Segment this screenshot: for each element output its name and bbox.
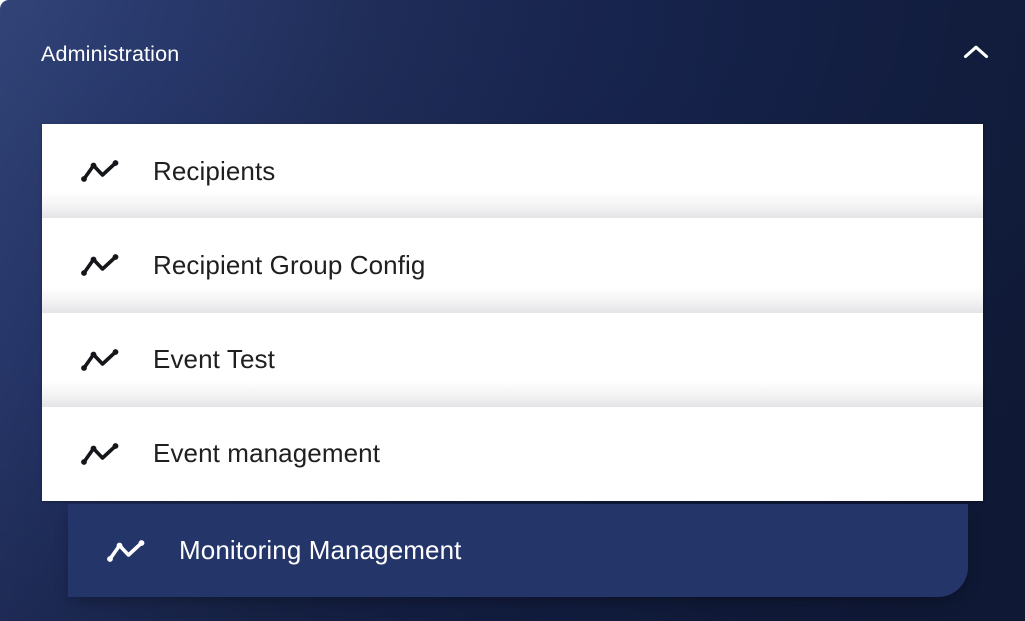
- line-chart-icon: [79, 158, 121, 184]
- line-chart-icon: [79, 252, 121, 278]
- menu-item-event-management[interactable]: Event management: [42, 407, 983, 501]
- menu-item-label: Recipients: [153, 156, 275, 187]
- sidebar-item-monitoring-management[interactable]: Monitoring Management: [68, 504, 968, 597]
- sidebar-item-label: Monitoring Management: [179, 535, 461, 566]
- menu-item-event-test[interactable]: Event Test: [42, 313, 983, 407]
- menu-item-label: Recipient Group Config: [153, 250, 425, 281]
- administration-menu-list: Recipients Recipient Group Config: [42, 124, 983, 501]
- line-chart-icon: [79, 347, 121, 373]
- panel-header: Administration: [0, 0, 1025, 112]
- line-chart-icon: [105, 538, 147, 564]
- page-title: Administration: [41, 42, 179, 67]
- administration-panel: Administration Monitoring Management: [0, 0, 1025, 621]
- menu-item-recipients[interactable]: Recipients: [42, 124, 983, 218]
- menu-item-label: Event Test: [153, 344, 275, 375]
- menu-item-label: Event management: [153, 438, 380, 469]
- chevron-up-icon[interactable]: [956, 32, 996, 72]
- menu-item-recipient-group-config[interactable]: Recipient Group Config: [42, 218, 983, 312]
- line-chart-icon: [79, 441, 121, 467]
